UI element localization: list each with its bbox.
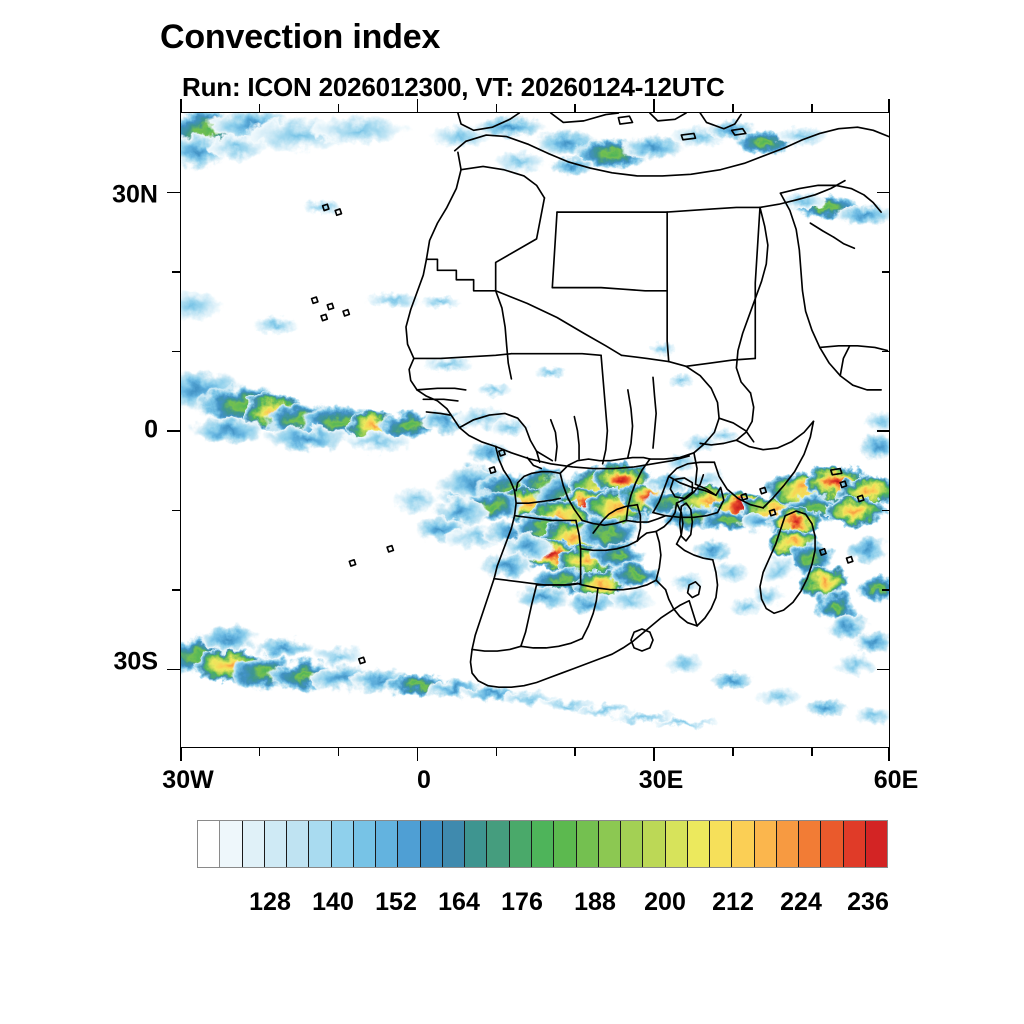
colorbar-cell bbox=[376, 821, 398, 867]
x-axis-label-0: 0 bbox=[417, 766, 431, 795]
colorbar bbox=[197, 820, 888, 868]
colorbar-cell bbox=[421, 821, 443, 867]
x-tick-40E bbox=[732, 748, 734, 756]
colorbar-cell bbox=[354, 821, 376, 867]
colorbar-cell bbox=[844, 821, 866, 867]
y-tick-30N bbox=[167, 192, 180, 194]
colorbar-label-128: 128 bbox=[249, 888, 291, 917]
colorbar-cell bbox=[577, 821, 599, 867]
colorbar-label-188: 188 bbox=[574, 888, 616, 917]
x-tick-60E bbox=[888, 748, 890, 761]
y-tick-right-20N bbox=[882, 271, 890, 273]
x-axis-label-30W: 30W bbox=[162, 766, 213, 795]
colorbar-cell bbox=[443, 821, 465, 867]
colorbar-label-236: 236 bbox=[847, 888, 889, 917]
page-subtitle: Run: ICON 2026012300, VT: 20260124-12UTC bbox=[182, 72, 1002, 102]
x-tick-top-20W bbox=[259, 104, 261, 112]
colorbar-label-212: 212 bbox=[712, 888, 754, 917]
colorbar-cell bbox=[666, 821, 688, 867]
x-tick-20E bbox=[574, 748, 576, 756]
y-axis-label-30S: 30S bbox=[58, 648, 158, 677]
y-tick-10S bbox=[172, 510, 180, 512]
colorbar-cell bbox=[755, 821, 777, 867]
y-tick-20N bbox=[172, 271, 180, 273]
colorbar-cell bbox=[487, 821, 509, 867]
x-tick-top-0 bbox=[417, 99, 419, 112]
colorbar-label-200: 200 bbox=[644, 888, 686, 917]
colorbar-cell bbox=[554, 821, 576, 867]
map-plot-area bbox=[180, 112, 890, 748]
colorbar-cell bbox=[309, 821, 331, 867]
y-tick-right-10S bbox=[882, 510, 890, 512]
x-tick-top-40E bbox=[732, 104, 734, 112]
colorbar-cell bbox=[243, 821, 265, 867]
colorbar-cell bbox=[510, 821, 532, 867]
y-tick-right-10N bbox=[882, 351, 890, 353]
colorbar-label-224: 224 bbox=[780, 888, 822, 917]
x-tick-top-30W bbox=[180, 99, 182, 112]
colorbar-cell bbox=[465, 821, 487, 867]
colorbar-cell bbox=[821, 821, 843, 867]
y-tick-right-30S bbox=[877, 669, 890, 671]
y-axis-label-0: 0 bbox=[58, 416, 158, 445]
x-tick-10E bbox=[496, 748, 498, 756]
y-tick-20S bbox=[172, 589, 180, 591]
y-tick-0 bbox=[167, 430, 180, 432]
colorbar-cell bbox=[287, 821, 309, 867]
colorbar-cell bbox=[532, 821, 554, 867]
colorbar-cell bbox=[332, 821, 354, 867]
colorbar-cell bbox=[866, 821, 887, 867]
y-tick-right-0 bbox=[877, 430, 890, 432]
x-tick-30W bbox=[180, 748, 182, 761]
colorbar-label-164: 164 bbox=[438, 888, 480, 917]
colorbar-cell bbox=[799, 821, 821, 867]
colorbar-label-176: 176 bbox=[501, 888, 543, 917]
page-title: Convection index bbox=[160, 18, 980, 56]
map-svg bbox=[181, 113, 889, 747]
colorbar-cell bbox=[710, 821, 732, 867]
x-tick-10W bbox=[338, 748, 340, 756]
y-axis-label-30N: 30N bbox=[58, 181, 158, 210]
map-canvas bbox=[181, 113, 889, 747]
y-tick-10N bbox=[172, 351, 180, 353]
colorbar-label-152: 152 bbox=[375, 888, 417, 917]
x-tick-top-10E bbox=[496, 104, 498, 112]
colorbar-label-140: 140 bbox=[312, 888, 354, 917]
x-tick-20W bbox=[259, 748, 261, 756]
x-axis-label-60E: 60E bbox=[874, 766, 918, 795]
x-tick-top-20E bbox=[574, 104, 576, 112]
x-tick-0 bbox=[417, 748, 419, 761]
colorbar-cell bbox=[599, 821, 621, 867]
colorbar-cell bbox=[220, 821, 242, 867]
x-tick-30E bbox=[653, 748, 655, 761]
colorbar-cell bbox=[643, 821, 665, 867]
y-tick-right-30N bbox=[877, 192, 890, 194]
x-tick-top-30E bbox=[653, 99, 655, 112]
x-tick-50E bbox=[811, 748, 813, 756]
y-tick-30S bbox=[167, 669, 180, 671]
colorbar-cell bbox=[621, 821, 643, 867]
x-tick-top-60E bbox=[888, 99, 890, 112]
colorbar-cell bbox=[732, 821, 754, 867]
colorbar-cell bbox=[688, 821, 710, 867]
colorbar-cell bbox=[398, 821, 420, 867]
x-tick-top-50E bbox=[811, 104, 813, 112]
colorbar-cell bbox=[198, 821, 220, 867]
x-tick-top-10W bbox=[338, 104, 340, 112]
figure-root: Convection index Run: ICON 2026012300, V… bbox=[0, 0, 1024, 1024]
colorbar-cell bbox=[265, 821, 287, 867]
colorbar-cell bbox=[777, 821, 799, 867]
y-tick-right-20S bbox=[882, 589, 890, 591]
x-axis-label-30E: 30E bbox=[639, 766, 683, 795]
